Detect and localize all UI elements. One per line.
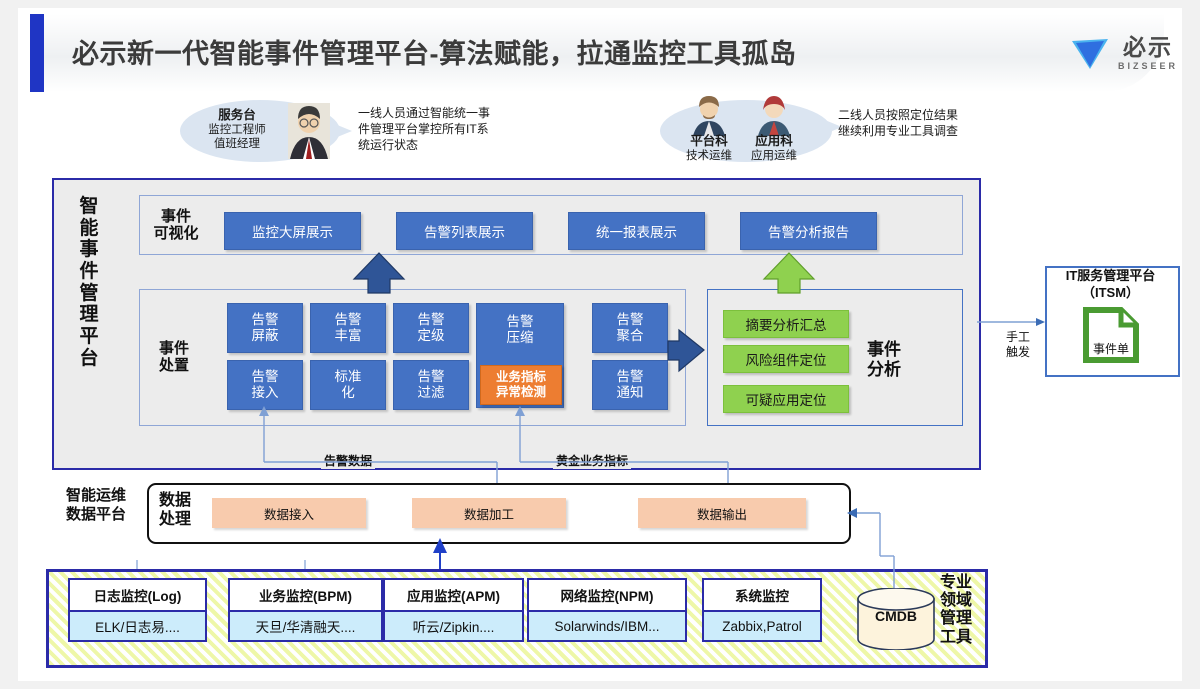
bubble-tail-left	[330, 122, 352, 140]
viz-button-0[interactable]: 监控大屏展示	[224, 212, 361, 250]
cmdb-label: CMDB	[855, 608, 937, 624]
analysis-button-2[interactable]: 可疑应用定位	[723, 385, 849, 413]
tool-name-log: 日志监控(Log)	[68, 578, 207, 612]
analysis-button-1[interactable]: 风险组件定位	[723, 345, 849, 373]
persona-right-1-title: 平台科	[676, 134, 742, 149]
tool-vendors-system: Zabbix,Patrol	[702, 612, 822, 642]
data-processing-label: 数据 处理	[152, 492, 198, 530]
tool-card-system[interactable]: 系统监控 Zabbix,Patrol	[702, 578, 822, 642]
callout-frontline: 一线人员通过智能统一事件管理平台掌控所有IT系统运行状态	[358, 105, 490, 154]
handling-row-label: 事件 处置	[152, 340, 196, 375]
data-platform-button-1[interactable]: 数据加工	[412, 498, 566, 528]
tool-card-bpm[interactable]: 业务监控(BPM) 天旦/华清融天....	[228, 578, 383, 642]
platform-side-label: 智能事件管理平台	[72, 196, 106, 369]
connector-label-alarm-data: 告警数据	[321, 452, 375, 469]
domain-tools-side-label: 专业领域管理工具	[940, 574, 972, 647]
persona-left-sub2: 值班经理	[188, 137, 286, 151]
tool-name-apm: 应用监控(APM)	[383, 578, 524, 612]
visualization-row-label: 事件 可视化	[150, 208, 202, 243]
bizseer-check-icon	[1070, 37, 1110, 71]
logo-en-text: BIZSEER	[1118, 62, 1178, 71]
handling-cell-grading[interactable]: 告警定级	[393, 303, 469, 353]
persona-right-2-text: 应用科 应用运维	[741, 134, 807, 163]
data-platform-side-label: 智能运维 数据平台	[48, 487, 144, 525]
handling-cell-ingest[interactable]: 告警接入	[227, 360, 303, 410]
diagram-canvas: 必示新一代智能事件管理平台-算法赋能，拉通监控工具孤岛 必示 BIZSEER 服…	[0, 0, 1200, 689]
itsm-title: IT服务管理平台 （ITSM）	[1045, 268, 1176, 302]
logo-cn-text: 必示	[1123, 36, 1173, 59]
handling-cell-aggregate[interactable]: 告警聚合	[592, 303, 668, 353]
handling-cell-business-anomaly[interactable]: 业务指标异常检测	[480, 365, 562, 405]
tool-vendors-bpm: 天旦/华清融天....	[228, 612, 383, 642]
viz-button-3[interactable]: 告警分析报告	[740, 212, 877, 250]
callout-secondline: 二线人员按照定位结果继续利用专业工具调查	[838, 107, 960, 139]
connector-label-golden-metrics: 黄金业务指标	[553, 452, 631, 469]
viz-button-2[interactable]: 统一报表展示	[568, 212, 705, 250]
handling-cell-enrich[interactable]: 告警丰富	[310, 303, 386, 353]
tool-name-system: 系统监控	[702, 578, 822, 612]
tool-name-npm: 网络监控(NPM)	[527, 578, 687, 612]
persona-right-2-title: 应用科	[741, 134, 807, 149]
logo-wordmark: 必示 BIZSEER	[1118, 36, 1178, 71]
persona-left-title: 服务台	[188, 108, 286, 123]
persona-left-sub1: 监控工程师	[188, 123, 286, 137]
data-platform-button-0[interactable]: 数据接入	[212, 498, 366, 528]
persona-left-text: 服务台 监控工程师 值班经理	[188, 108, 286, 151]
viz-button-1[interactable]: 告警列表展示	[396, 212, 533, 250]
data-platform-button-2[interactable]: 数据输出	[638, 498, 806, 528]
handling-cell-standardize[interactable]: 标准化	[310, 360, 386, 410]
tool-card-npm[interactable]: 网络监控(NPM) Solarwinds/IBM...	[527, 578, 687, 642]
tool-vendors-log: ELK/日志易....	[68, 612, 207, 642]
handling-cell-filter[interactable]: 告警过滤	[393, 360, 469, 410]
handling-cell-notify[interactable]: 告警通知	[592, 360, 668, 410]
persona-right-2-sub: 应用运维	[741, 149, 807, 163]
persona-right-1-sub: 技术运维	[676, 149, 742, 163]
manual-trigger-label: 手工 触发	[1000, 330, 1036, 360]
tool-vendors-npm: Solarwinds/IBM...	[527, 612, 687, 642]
page-title: 必示新一代智能事件管理平台-算法赋能，拉通监控工具孤岛	[72, 32, 797, 71]
tool-card-log[interactable]: 日志监控(Log) ELK/日志易....	[68, 578, 207, 642]
handling-cell-shield[interactable]: 告警屏蔽	[227, 303, 303, 353]
analysis-panel-label: 事件 分析	[862, 340, 906, 379]
analysis-button-0[interactable]: 摘要分析汇总	[723, 310, 849, 338]
tool-name-bpm: 业务监控(BPM)	[228, 578, 383, 612]
tool-vendors-apm: 听云/Zipkin....	[383, 612, 524, 642]
persona-right-1-text: 平台科 技术运维	[676, 134, 742, 163]
incident-ticket-label: 事件单	[1083, 340, 1139, 357]
tool-card-apm[interactable]: 应用监控(APM) 听云/Zipkin....	[383, 578, 524, 642]
company-logo: 必示 BIZSEER	[1070, 36, 1178, 71]
avatar-service-desk-icon	[288, 103, 330, 164]
header-accent-bar	[30, 14, 44, 92]
